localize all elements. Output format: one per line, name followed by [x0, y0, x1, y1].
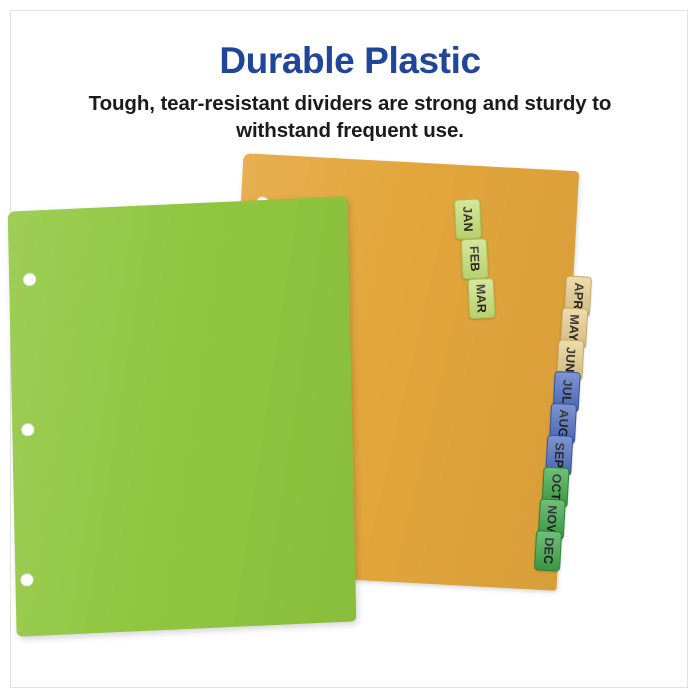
tab-label: AUG	[555, 409, 571, 438]
punch-hole	[20, 573, 33, 587]
tab-jan[interactable]: JAN	[454, 198, 482, 239]
tab-label: SEP	[552, 442, 567, 468]
headline-block: Durable Plastic Tough, tear-resistant di…	[0, 42, 700, 144]
tab-dec[interactable]: DEC	[534, 530, 562, 571]
punch-hole	[21, 423, 34, 437]
tab-label: MAY	[566, 314, 581, 342]
tab-label: NOV	[544, 505, 559, 533]
punch-hole	[23, 272, 36, 286]
tab-label: APR	[570, 282, 585, 310]
tab-mar[interactable]: MAR	[468, 278, 496, 319]
product-photo: JAN FEB MAR APR MAY JUN JUL	[0, 150, 700, 680]
tab-label: MAR	[474, 284, 489, 314]
tab-label: JUN	[563, 347, 578, 373]
page-subtitle: Tough, tear-resistant dividers are stron…	[70, 90, 630, 145]
tab-feb[interactable]: FEB	[461, 238, 489, 279]
tab-label: FEB	[467, 246, 482, 272]
tab-label: JAN	[460, 206, 475, 232]
page-title: Durable Plastic	[0, 42, 700, 81]
product-image-card: Durable Plastic Tough, tear-resistant di…	[0, 0, 700, 700]
tab-label: DEC	[540, 537, 555, 565]
green-divider-sheet	[8, 196, 357, 636]
tab-label: OCT	[548, 473, 563, 501]
tab-label: JUL	[559, 379, 574, 404]
